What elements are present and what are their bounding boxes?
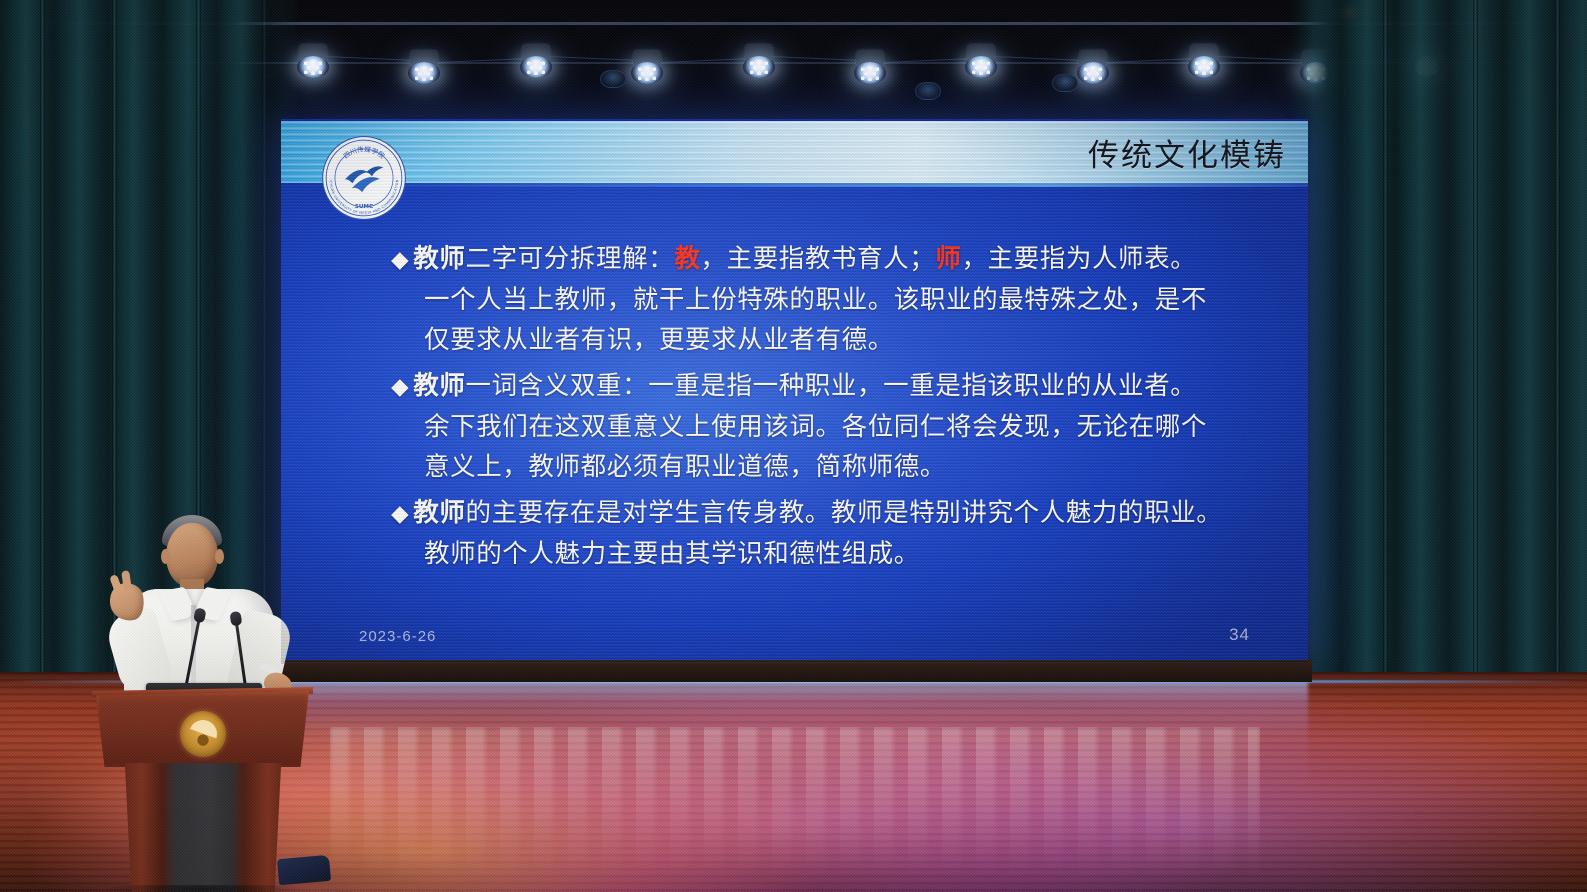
stage-curtain-right: [1287, 0, 1587, 700]
bullet-first-line: ◆教师二字可分拆理解：教，主要指教书育人；师，主要指为人师表。: [391, 239, 1268, 280]
moving-head-light-1: [600, 70, 626, 88]
lectern-emblem-icon: [180, 711, 226, 757]
bullet-text-run: 一词含义双重：一重是指一种职业，一重是指该职业的从业者。: [466, 371, 1197, 401]
bullet-item: ◆教师二字可分拆理解：教，主要指教书育人；师，主要指为人师表。一个人当上教师，就…: [391, 239, 1268, 360]
bullet-text-run: 仅要求从业者有识，更要求从业者有德。: [424, 325, 894, 355]
bullet-text-run: 教师: [413, 371, 465, 401]
bullet-continuation-line: 仅要求从业者有识，更要求从业者有德。: [391, 320, 1268, 360]
bullet-text-run: ，主要指教书育人；: [700, 244, 935, 274]
presenter: [88, 505, 318, 705]
bullet-item: ◆教师一词含义双重：一重是指一种职业，一重是指该职业的从业者。余下我们在这双重意…: [391, 366, 1268, 487]
bullet-text-run: 意义上，教师都必须有职业道德，简称师德。: [424, 452, 946, 482]
bullet-text-run: ，主要指为人师表。: [961, 244, 1196, 274]
bullet-continuation-line: 意义上，教师都必须有职业道德，简称师德。: [391, 447, 1268, 487]
page-title: 传统文化模铸: [1088, 130, 1286, 175]
slide-header-band: 传统文化模铸: [281, 121, 1308, 183]
bullet-first-line: ◆教师一词含义双重：一重是指一种职业，一重是指该职业的从业者。: [391, 366, 1268, 407]
bullet-diamond-icon: ◆: [391, 247, 409, 273]
bullet-text-run: 一个人当上教师，就干上份特殊的职业。该职业的最特殊之处，是不: [424, 285, 1207, 315]
sumc-university-emblem-icon: SUMC 四川传媒学院 SICHUAN UNIVERSITY OF MEDIA …: [320, 134, 408, 222]
slide-date: 2023-6-26: [359, 628, 436, 645]
led-presentation-screen[interactable]: 传统文化模铸 SUMC 四川传媒学院 SICHUA: [281, 119, 1308, 664]
bullet-continuation-line: 余下我们在这双重意义上使用该词。各位同仁将会发现，无论在哪个: [391, 407, 1268, 447]
bullet-text-run: 的主要存在是对学生言传身教。教师是特别讲究个人魅力的职业。: [466, 498, 1223, 528]
stage-scene: 传统文化模铸 SUMC 四川传媒学院 SICHUA: [0, 0, 1587, 892]
bullet-text-run: 教: [674, 244, 700, 274]
slide-footer: 2023-6-26 34: [281, 628, 1308, 650]
lectern-column: [118, 763, 288, 892]
moving-head-light-2: [915, 82, 941, 100]
screen-bezel: [277, 660, 1312, 682]
bullet-first-line: ◆教师的主要存在是对学生言传身教。教师是特别讲究个人魅力的职业。: [391, 493, 1268, 534]
led-par-can-light: [853, 50, 887, 88]
bullet-text-run: 教师: [413, 244, 465, 274]
header-underline: [281, 183, 1308, 187]
bullet-continuation-line: 教师的个人魅力主要由其学识和德性组成。: [391, 534, 1268, 574]
moving-head-light-3: [1052, 74, 1078, 92]
led-par-can-light: [964, 44, 998, 82]
led-par-can-light: [407, 50, 441, 88]
presenter-ear-left: [161, 549, 170, 564]
bullet-diamond-icon: ◆: [391, 374, 409, 400]
bullet-diamond-icon: ◆: [391, 501, 409, 527]
led-par-can-light: [1187, 44, 1221, 82]
slide-bullet-list: ◆教师二字可分拆理解：教，主要指教书育人；师，主要指为人师表。一个人当上教师，就…: [391, 239, 1268, 580]
bullet-text-run: 二字可分拆理解：: [466, 244, 675, 274]
led-par-can-light: [296, 44, 330, 82]
lighting-cable: [994, 56, 1080, 61]
lighting-cable: [326, 56, 411, 61]
presenter-and-lectern: [88, 505, 318, 892]
slide-page-number: 34: [1229, 625, 1250, 645]
bullet-text-run: 师: [935, 244, 961, 274]
bullet-text-run: 教师的个人魅力主要由其学识和德性组成。: [424, 539, 920, 569]
floor-bag: [277, 855, 331, 885]
presenter-head: [166, 523, 218, 587]
led-par-can-light: [742, 44, 776, 82]
bullet-item: ◆教师的主要存在是对学生言传身教。教师是特别讲究个人魅力的职业。教师的个人魅力主…: [391, 493, 1268, 574]
lighting-cable: [772, 56, 857, 61]
slide-reflection: [330, 727, 1260, 877]
presenter-ear-right: [215, 549, 224, 564]
bullet-text-run: 余下我们在这双重意义上使用该词。各位同仁将会发现，无论在哪个: [424, 412, 1207, 442]
led-par-can-light: [630, 50, 664, 88]
led-par-can-light: [519, 44, 553, 82]
led-par-can-light: [1076, 50, 1110, 88]
bullet-continuation-line: 一个人当上教师，就干上份特殊的职业。该职业的最特殊之处，是不: [391, 280, 1268, 320]
bullet-text-run: 教师: [413, 498, 465, 528]
lighting-cable: [549, 56, 634, 61]
svg-text:SUMC: SUMC: [355, 204, 373, 210]
lectern-shadow: [102, 885, 302, 892]
